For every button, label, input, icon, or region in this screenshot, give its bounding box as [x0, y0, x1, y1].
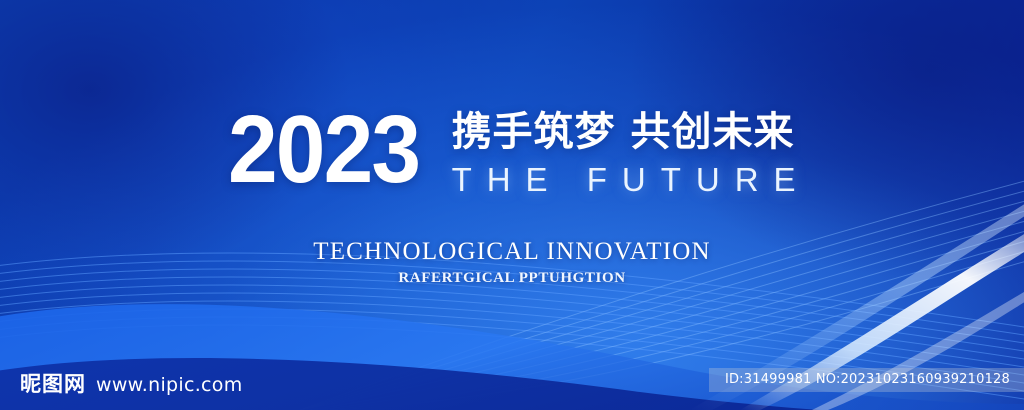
wave-lines-layer	[0, 0, 1024, 410]
watermark-site-url: www.nipic.com	[96, 374, 243, 396]
watermark-site-name: 昵图网	[20, 368, 86, 398]
bottom-wave-shapes	[0, 0, 1024, 410]
watermark: 昵图网 www.nipic.com	[20, 368, 243, 398]
poster-canvas: 2023 携手筑梦 共创未来 THE FUTURE TECHNOLOGICAL …	[0, 0, 1024, 410]
background-glow-layer	[0, 0, 1024, 410]
subtitle-block: TECHNOLOGICAL INNOVATION RAFERTGICAL PPT…	[0, 238, 1024, 287]
year-text: 2023	[228, 104, 419, 196]
stock-id-badge: ID:31499981 NO:20231023160939210128	[709, 368, 1024, 392]
headline-text-group: 携手筑梦 共创未来 THE FUTURE	[452, 104, 811, 198]
subtitle-primary: TECHNOLOGICAL INNOVATION	[0, 238, 1024, 266]
chinese-headline: 携手筑梦 共创未来	[452, 110, 811, 154]
english-headline: THE FUTURE	[452, 162, 811, 198]
light-streak-layer	[0, 0, 1024, 410]
subtitle-secondary: RAFERTGICAL PPTUHGTION	[0, 270, 1024, 287]
headline-block: 2023 携手筑梦 共创未来 THE FUTURE	[228, 104, 811, 198]
